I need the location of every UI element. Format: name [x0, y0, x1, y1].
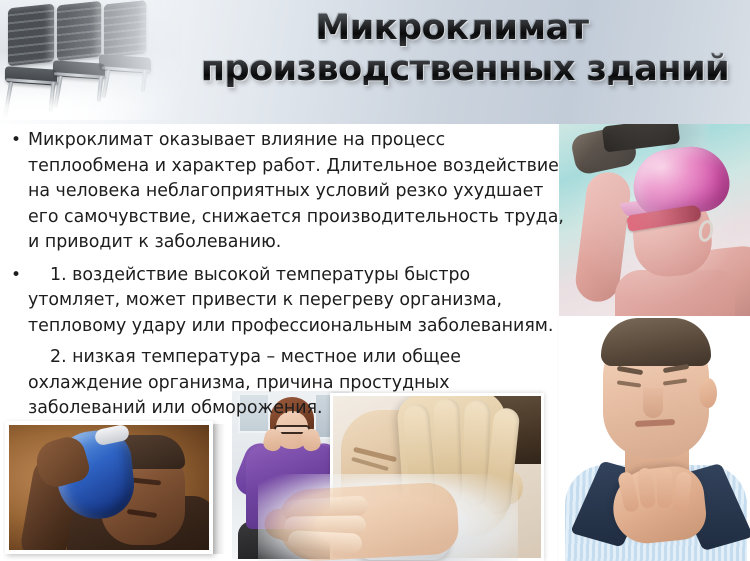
paragraph-1-text: Микроклимат оказывает влияние на процесс… — [28, 130, 564, 252]
hair — [601, 318, 711, 366]
photo-edge-shadow — [213, 424, 225, 554]
title-line-1: Микроклимат — [150, 8, 750, 49]
worker-hardhat-photo — [557, 124, 750, 320]
paragraph-1: • Микроклимат оказывает влияние на проце… — [0, 128, 566, 256]
chair-backrest — [57, 1, 101, 61]
hand-on-mouse-photo — [258, 474, 518, 561]
floor-reflection — [0, 86, 182, 120]
nose — [643, 388, 663, 418]
body-text-block: • Микроклимат оказывает влияние на проце… — [0, 128, 566, 426]
finger — [288, 530, 363, 554]
sore-throat-man-photo — [557, 316, 750, 561]
bullet-marker: • — [11, 128, 21, 154]
worker-torso — [615, 270, 735, 320]
paragraph-2-text: 1. воздействие высокой температуры быстр… — [28, 265, 553, 336]
header-banner: Микроклимат производственных зданий — [0, 0, 750, 124]
title-line-2: производственных зданий — [150, 49, 750, 90]
ear — [699, 378, 717, 408]
chair-backrest — [8, 4, 54, 67]
ice-pack-man-photo — [5, 421, 213, 554]
chair-backrest — [104, 0, 146, 58]
finger — [657, 468, 672, 508]
bullet-marker: • — [11, 263, 21, 289]
slide-canvas: Микроклимат производственных зданий • Ми… — [0, 0, 750, 561]
paragraph-2: • 1. воздействие высокой температуры быс… — [0, 263, 566, 340]
page-title: Микроклимат производственных зданий — [150, 8, 750, 91]
